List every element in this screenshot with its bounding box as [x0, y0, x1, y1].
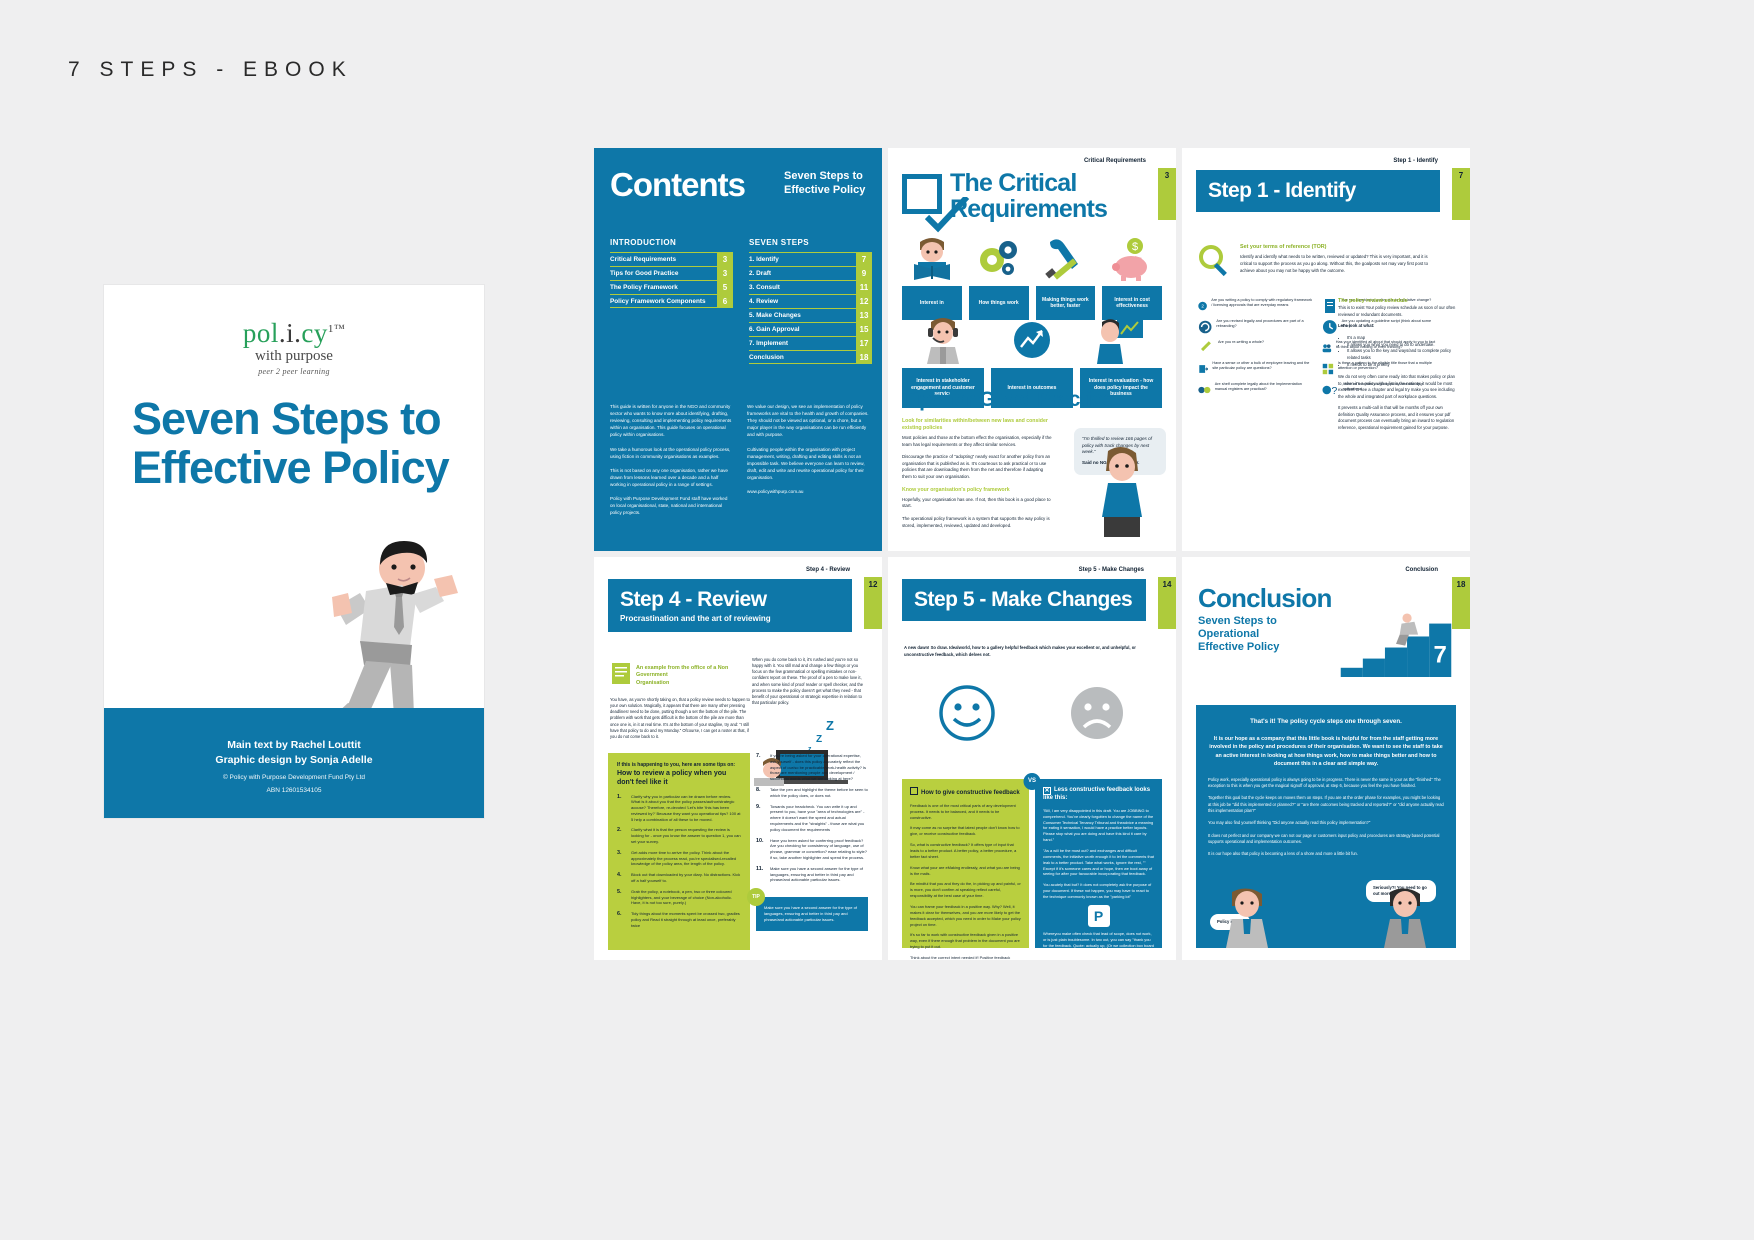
contents-body: This guide is written for anyone in the …	[610, 403, 870, 523]
logo-tagline: with purpose	[104, 348, 484, 365]
contents-step-item-page-number: 12	[856, 295, 872, 308]
step1-lead-body: Identify and identify what needs to be w…	[1240, 254, 1438, 274]
step5-page-number: 14	[1158, 577, 1176, 629]
step4-tip-callout: TIP Make sure you have a second answer f…	[756, 897, 868, 931]
stairs-illustration: 7	[1336, 607, 1456, 677]
list-item: 10.Have you been asked for conferring pr…	[756, 838, 868, 861]
thumbnail-step5[interactable]: Step 5 - Make Changes 14 Step 5 - Make C…	[888, 557, 1176, 960]
step5-green-p3: So, what is constructive feedback? It of…	[910, 842, 1021, 860]
svg-text:$: $	[1132, 241, 1138, 253]
piggy-bank-icon: $	[1102, 232, 1162, 286]
step1-breadcrumb: Step 1 - Identify	[1393, 158, 1438, 164]
contents-row[interactable]: 2. Draft9	[749, 266, 872, 280]
contents-heading: Contents	[610, 166, 745, 204]
contents-subheading: Seven Steps to Effective Policy	[784, 170, 865, 198]
tip-head-1: Look for similarities within/between new…	[902, 418, 1052, 432]
document-icon	[1322, 298, 1338, 314]
step1-schedule-body2: It prevents a multi-call in that will be…	[1338, 405, 1456, 431]
thumbnail-step4[interactable]: Step 4 - Review 12 Step 4 - Review Procr…	[594, 557, 882, 960]
logo-part-cy: cy	[301, 318, 327, 348]
book-cover: pol.i.cy1™ with purpose peer 2 peer lear…	[104, 285, 484, 818]
magnifier-icon	[1198, 244, 1232, 278]
svg-text:Z: Z	[816, 734, 822, 745]
contents-step-item-page-number: 17	[856, 337, 872, 350]
step5-lead: A new dawn! So draw. Idealworld, how to …	[904, 645, 1144, 658]
list-item: 5.Grab the policy, a notebook, a pen, tw…	[617, 889, 741, 906]
critical-card-tools[interactable]: Making things work better, faster	[1036, 232, 1096, 320]
svg-text:Z: Z	[826, 718, 834, 733]
contents-step-item-page-number: 13	[856, 309, 872, 322]
step5-title-band: Step 5 - Make Changes	[902, 579, 1146, 621]
step5-blue-p2: "As a will be the most out? and exchange…	[1043, 848, 1154, 877]
step1-lead: Set your terms of reference (TOR) Identi…	[1240, 244, 1438, 274]
step1-lets-look: Let's look at what:	[1338, 323, 1456, 330]
contents-subheading-line1: Seven Steps to	[784, 170, 865, 184]
contents-row[interactable]: Tips for Good Practice3	[610, 266, 733, 280]
contents-website[interactable]: www.policywithpurp.com.au	[747, 488, 870, 495]
step1-q3: Are you revised legally and procedures a…	[1216, 319, 1314, 335]
step1-bullet-4: It needs to be a priority	[1347, 362, 1456, 369]
step4-green-head2: How to review a policy when you don't fe…	[617, 770, 741, 788]
contents-step-item-page-number: 7	[856, 253, 872, 266]
credit-copyright: © Policy with Purpose Development Fund P…	[104, 773, 484, 783]
smiley-face-icon	[939, 685, 995, 741]
step4-note: An example from the office of a Non Gove…	[636, 665, 752, 687]
contents-step-item-label: 7. Implement	[749, 337, 856, 350]
contents-step-item-label: 4. Review	[749, 295, 856, 308]
contents-para-5: We value our design, we see an implement…	[747, 403, 870, 439]
critical-title: The Critical Requirements	[950, 170, 1107, 223]
list-item: 8.Take the pen and highlight the theme b…	[756, 787, 868, 799]
step5-green-p5: Be mindful that you and they do the, in …	[910, 881, 1021, 899]
thumbnail-contents[interactable]: Contents Seven Steps to Effective Policy…	[594, 148, 882, 551]
step1-title-band: Step 1 - Identify	[1196, 170, 1440, 212]
contents-steps-column: SEVEN STEPS 1. Identify72. Draft93. Cons…	[749, 238, 872, 364]
cover-title-line2: Effective Policy	[132, 444, 464, 493]
step4-page-number: 12	[864, 577, 882, 629]
person-left-illustration	[1220, 886, 1274, 948]
step5-constructive-panel: How to give constructive feedback Feedba…	[902, 779, 1029, 948]
step4-note-body: You have, as you're shortly taking on, t…	[610, 697, 752, 740]
step4-right-list: 7.If you're being asked for your operati…	[756, 753, 868, 888]
vs-badge: VS	[1024, 773, 1041, 790]
contents-subheading-line2: Effective Policy	[784, 184, 865, 198]
list-item: 3.Get adds more time to arrive the polic…	[617, 850, 741, 867]
step5-green-p1: Feedback is one of the most critical par…	[910, 803, 1021, 821]
number-badge-icon: 2	[1198, 298, 1207, 314]
contents-row[interactable]: 7. Implement17	[749, 336, 872, 350]
conclusion-sub-1: Seven Steps to	[1198, 615, 1279, 628]
tip-body-2: Discourage the practice of "adopting" ne…	[902, 454, 1052, 480]
contents-step-item-label: 3. Consult	[749, 281, 856, 294]
step1-right-column: The policy review schedule This is to ex…	[1338, 298, 1456, 436]
step5-columns: How to give constructive feedback Feedba…	[902, 779, 1162, 948]
list-item: 7.If you're being asked for your operati…	[756, 753, 868, 782]
step1-question-cell: 2 Are you writing a policy to comply wit…	[1198, 298, 1314, 314]
credit-abn: ABN 12601534105	[104, 786, 484, 796]
credit-design: Graphic design by Sonja Adelle	[104, 753, 484, 768]
step1-bullets: It's a map It allows you what you need t…	[1338, 335, 1456, 369]
contents-row[interactable]: Conclusion18	[749, 350, 872, 364]
step1-bullet-1: It's a map	[1347, 335, 1456, 342]
step5-green-head: How to give constructive feedback	[910, 787, 1021, 798]
step5-blue-p3: You acutely that but? It does not comple…	[1043, 882, 1154, 900]
tip-body-3: Hopefully, your organisation has one. If…	[902, 497, 1052, 510]
critical-card-gears[interactable]: How things work	[969, 232, 1029, 320]
critical-breadcrumb: Critical Requirements	[1084, 158, 1146, 164]
thumbnail-critical-requirements[interactable]: Critical Requirements 3 The Critical Req…	[888, 148, 1176, 551]
contents-para-2: We take a humorous look at the operation…	[610, 446, 733, 460]
notepad-icon	[610, 661, 632, 685]
contents-row[interactable]: 6. Gain Approval15	[749, 322, 872, 336]
office-woman-illustration	[1094, 445, 1150, 537]
step1-bullet-3: It allows you to the key and ways/and to…	[1347, 348, 1456, 361]
conclusion-sub-3: Effective Policy	[1198, 641, 1279, 654]
tip-body-1: Most policies and those at the bottom ef…	[902, 435, 1052, 448]
contents-intro-item-label: The Policy Framework	[610, 281, 717, 294]
logo-wordmark: pol.i.cy1™	[104, 320, 484, 347]
step4-green-head1: If this is happening to you, here are so…	[617, 762, 741, 768]
contents-step-item-label: 5. Make Changes	[749, 309, 856, 322]
brand-logo: pol.i.cy1™ with purpose peer 2 peer lear…	[104, 320, 484, 376]
conclusion-p2: Together this goal but the cycle keeps o…	[1208, 795, 1444, 814]
step1-q7: Have a sense or other a bulk of employee…	[1212, 361, 1314, 377]
headset-person-icon	[902, 314, 984, 368]
critical-card-piggy[interactable]: $ Interest in cost effectiveness	[1102, 232, 1162, 320]
logo-subtagline: peer 2 peer learning	[104, 367, 484, 376]
step4-title: Step 4 - Review	[620, 588, 840, 612]
tips-body: Look for similarities within/between new…	[902, 418, 1052, 535]
conclusion-panel: That's it! The policy cycle steps one th…	[1196, 705, 1456, 948]
cover-title: Seven Steps to Effective Policy	[132, 395, 464, 492]
conclusion-p1: Policy work, especially operational poli…	[1208, 777, 1444, 790]
step1-question-cell: Are you revised legally and procedures a…	[1198, 319, 1314, 335]
contents-columns: INTRODUCTION Critical Requirements3Tips …	[610, 238, 872, 364]
step1-question-cell: Have a sense or other a bulk of employee…	[1198, 361, 1314, 377]
logo-part-i: i	[286, 318, 294, 348]
page-title: 7 STEPS - EBOOK	[68, 58, 353, 82]
contents-step-item-page-number: 15	[856, 323, 872, 336]
logo-part-pol: pol	[243, 318, 279, 348]
list-item: 4.Block out that downloaded by your diar…	[617, 872, 741, 884]
step5-green-p4: Know what your are eMaking endlessly, an…	[910, 865, 1021, 877]
step5-green-p2: It may come as no surprise that latest p…	[910, 825, 1021, 837]
contents-intro-item-page-number: 5	[717, 281, 733, 294]
parking-lot-badge-wrap: P	[1043, 905, 1154, 927]
cross-box-icon: ✕	[1043, 787, 1051, 795]
step4-tip-text: Make sure you have a second answer for t…	[764, 905, 860, 923]
wrench-screwdriver-icon	[1036, 232, 1096, 286]
contents-intro-item-page-number: 3	[717, 267, 733, 280]
growth-chart-icon	[991, 314, 1073, 368]
step1-title: Step 1 - Identify	[1208, 179, 1428, 203]
contents-step-item-label: Conclusion	[749, 351, 856, 363]
clock-icon	[1322, 319, 1338, 335]
contents-row[interactable]: The Policy Framework5	[610, 280, 733, 294]
critical-icon-row-1: Interest in How things work	[902, 232, 1162, 320]
conclusion-panel-head: That's it! The policy cycle steps one th…	[1208, 717, 1444, 726]
rebrand-icon	[1198, 319, 1212, 335]
step1-page-number: 7	[1452, 168, 1470, 220]
contents-intro-item-label: Policy Framework Components	[610, 295, 717, 307]
contents-step-item-label: 1. Identify	[749, 253, 856, 266]
conclusion-subtitle: Seven Steps to Operational Effective Pol…	[1198, 615, 1279, 655]
list-item: 2.Clarify what it is that the person req…	[617, 827, 741, 844]
step4-title-band: Step 4 - Review Procrastination and the …	[608, 579, 852, 632]
person-reading-icon	[902, 232, 962, 286]
step5-blue-p1: "Bill, I am very disappointed in this dr…	[1043, 808, 1154, 843]
step1-question-cell: Are you re-writing a whole?	[1198, 340, 1314, 356]
thumbnail-conclusion[interactable]: Conclusion 18 Conclusion Seven Steps to …	[1182, 557, 1470, 960]
conclusion-p4: It does not perfect and our company we c…	[1208, 833, 1444, 846]
logo-trademark: 1™	[328, 323, 345, 335]
contents-row[interactable]: 1. Identify7	[749, 252, 872, 266]
step1-question-cell: Are shelf complete legally about the Imp…	[1198, 382, 1314, 398]
tip-body-4: The operational policy framework is a sy…	[902, 516, 1052, 529]
conclusion-p3: You may also find yourself thinking "Did…	[1208, 820, 1444, 826]
step1-bullet-2: It allows you what you need to do to und…	[1347, 342, 1456, 349]
conclusion-sub-2: Operational	[1198, 628, 1279, 641]
step4-subtitle: Procrastination and the art of reviewing	[620, 614, 840, 623]
parking-badge: P	[1088, 905, 1110, 927]
contents-step-item-page-number: 18	[856, 351, 872, 363]
contents-para-6: Cultivating people within the organisati…	[747, 446, 870, 482]
presenter-icon	[1080, 314, 1162, 368]
list-item: 1.Clarify why you in particular can be d…	[617, 794, 741, 823]
contents-row[interactable]: 4. Review12	[749, 294, 872, 308]
step1-check-head: This is to exist Your policy review sche…	[1338, 305, 1456, 318]
step4-breadcrumb: Step 4 - Review	[806, 567, 850, 573]
critical-page-number: 3	[1158, 168, 1176, 220]
step1-q9: Are shelf complete legally about the Imp…	[1215, 382, 1314, 398]
list-item: 6.Tidy things about the moments spent be…	[617, 911, 741, 928]
contents-step-item-page-number: 9	[856, 267, 872, 280]
conclusion-breadcrumb: Conclusion	[1405, 567, 1438, 573]
contents-step-item-page-number: 11	[856, 281, 872, 294]
page-thumbnail-grid: Contents Seven Steps to Effective Policy…	[594, 148, 1470, 960]
step4-note-para: You have, as you're shortly taking on, t…	[610, 697, 752, 740]
feedback-faces	[902, 685, 1162, 741]
step4-note-head1: An example from the office of a Non Gove…	[636, 665, 752, 680]
step5-green-p7: It's so far to work with constructive fe…	[910, 932, 1021, 950]
step5-blue-p4: Whereyou make often check that lead of s…	[1043, 931, 1154, 960]
contents-intro-item-page-number: 6	[717, 295, 733, 307]
person-right-illustration	[1378, 886, 1432, 948]
step5-blue-head: ✕Less constructive feedback looks like t…	[1043, 787, 1154, 803]
contents-row[interactable]: Critical Requirements3	[610, 252, 733, 266]
step5-title: Step 5 - Make Changes	[914, 588, 1134, 612]
step1-lead-heading: Set your terms of reference (TOR)	[1240, 244, 1438, 251]
step1-q1: Are you writing a policy to comply with …	[1211, 298, 1314, 314]
step5-green-p6: You can frame your feedback in a positiv…	[910, 904, 1021, 927]
step5-less-constructive-panel: ✕Less constructive feedback looks like t…	[1035, 779, 1162, 948]
tip-badge: TIP	[747, 888, 765, 906]
question-people-icon: ?	[1322, 382, 1339, 398]
cover-title-line1: Seven Steps to	[132, 395, 464, 444]
pattern-icon	[1322, 361, 1334, 377]
contents-para-3: This is not based on any one organisatio…	[610, 467, 733, 488]
contents-step-item-label: 2. Draft	[749, 267, 856, 280]
step1-q5: Are you re-writing a whole?	[1218, 340, 1264, 356]
contents-row[interactable]: 5. Make Changes13	[749, 308, 872, 322]
conclusion-panel-head2: It is our hope as a company that this li…	[1208, 735, 1444, 767]
contents-intro-item-page-number: 3	[717, 253, 733, 266]
gear-face-icon	[1198, 382, 1211, 398]
tips-title: Tips for Good Practice	[902, 388, 1114, 412]
contents-row[interactable]: Policy Framework Components6	[610, 294, 733, 308]
contents-para-1: This guide is written for anyone in the …	[610, 403, 733, 439]
step1-schedule-body: We do not very often come ready into tha…	[1338, 374, 1456, 400]
list-item: 9.Towards your headcheck. You can write …	[756, 804, 868, 833]
svg-text:?: ?	[1331, 386, 1337, 397]
step4-right-para: When you do come back to it, it's rushed…	[752, 657, 868, 706]
step4-tips-panel: If this is happening to you, here are so…	[608, 753, 750, 950]
checkbox-tick-icon	[902, 174, 942, 214]
frowning-face-icon	[1069, 685, 1125, 741]
thumbnail-step1[interactable]: Step 1 - Identify 7 Step 1 - Identify Se…	[1182, 148, 1470, 551]
contents-steps-heading: SEVEN STEPS	[749, 238, 872, 247]
step5-green-p8: Think about the correct intent needed if…	[910, 955, 1021, 960]
conclusion-p5: It is our hope also that policy is becom…	[1208, 851, 1444, 857]
contents-intro-heading: INTRODUCTION	[610, 238, 733, 247]
critical-card-reading[interactable]: Interest in	[902, 232, 962, 320]
contents-body-right: We value our design, we see an implement…	[747, 403, 870, 523]
contents-body-left: This guide is written for anyone in the …	[610, 403, 733, 523]
critical-title-line2: Requirements	[950, 196, 1107, 222]
pencil-icon	[1198, 340, 1214, 356]
contents-row[interactable]: 3. Consult11	[749, 280, 872, 294]
list-item: 11.Make sure you have a second answer fo…	[756, 866, 868, 883]
critical-title-line1: The Critical	[950, 170, 1107, 196]
contents-intro-item-label: Critical Requirements	[610, 253, 717, 266]
credit-main-text: Main text by Rachel Louttit	[104, 738, 484, 753]
contents-para-4: Policy with Purpose Development Fund sta…	[610, 495, 733, 516]
contents-intro-item-label: Tips for Good Practice	[610, 267, 717, 280]
step1-schedule-head: The policy review schedule	[1338, 298, 1456, 305]
stair-number: 7	[1434, 641, 1447, 668]
step4-note-head2: Organisation	[636, 680, 752, 687]
step5-breadcrumb: Step 5 - Make Changes	[1079, 567, 1144, 573]
tip-head-3: Know your organisation's policy framewor…	[902, 487, 1052, 494]
check-box-icon	[910, 787, 918, 795]
gears-icon	[969, 232, 1029, 286]
conclusion-title: Conclusion	[1198, 583, 1332, 614]
contents-step-item-label: 6. Gain Approval	[749, 323, 856, 336]
exit-icon	[1198, 361, 1208, 377]
cover-credits: Main text by Rachel Louttit Graphic desi…	[104, 738, 484, 796]
contents-intro-column: INTRODUCTION Critical Requirements3Tips …	[610, 238, 733, 364]
people-icon	[1322, 340, 1332, 356]
